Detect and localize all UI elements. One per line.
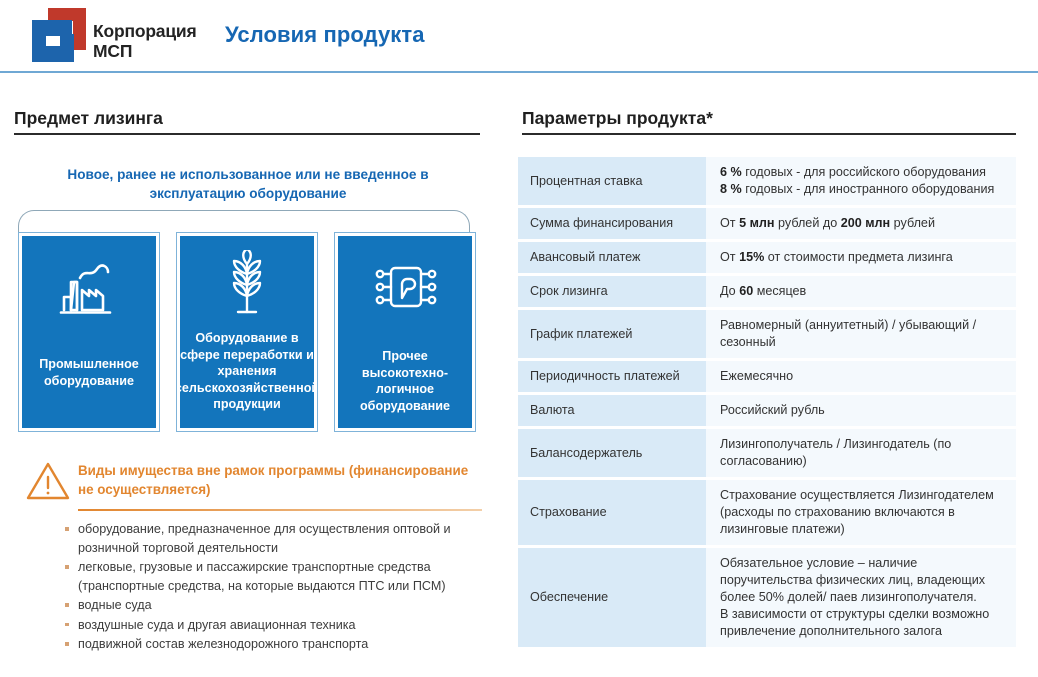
mcp-corporation-logo <box>28 6 88 64</box>
category-label: Промышленное оборудование <box>22 356 156 389</box>
wheat-ear-icon <box>221 248 273 322</box>
parameter-value: Лизингополучатель / Лизингодатель (по со… <box>706 428 1016 479</box>
factory-icon <box>58 254 120 328</box>
bullet-icon <box>65 527 69 531</box>
header-divider <box>0 71 1038 73</box>
right-section-title: Параметры продукта* <box>522 108 713 129</box>
left-section-divider <box>14 133 480 135</box>
list-item-text: оборудование, предназначенное для осущес… <box>78 522 451 555</box>
warning-title: Виды имущества вне рамок программы (фина… <box>78 462 478 499</box>
table-row: Авансовый платежОт 15% от стоимости пред… <box>518 241 1016 275</box>
product-parameters-table: Процентная ставка6 % годовых - для росси… <box>518 157 1016 647</box>
logo-wordmark-line1: Корпорация <box>93 21 196 41</box>
bullet-icon <box>65 603 69 607</box>
bullet-icon <box>65 642 69 646</box>
parameter-name: Страхование <box>518 479 706 547</box>
list-item: подвижной состав железнодорожного трансп… <box>62 635 494 654</box>
table-row: Периодичность платежейЕжемесячно <box>518 360 1016 394</box>
parameter-name: Валюта <box>518 394 706 428</box>
table-row: ВалютаРоссийский рубль <box>518 394 1016 428</box>
list-item: легковые, грузовые и пассажирские трансп… <box>62 558 494 595</box>
parameter-name: Срок лизинга <box>518 275 706 309</box>
list-item-text: водные суда <box>78 598 152 612</box>
parameter-name: Сумма финансирования <box>518 207 706 241</box>
parameter-value: Ежемесячно <box>706 360 1016 394</box>
category-label: Прочее высокотехно-логичное оборудование <box>338 348 472 414</box>
category-card-agriculture[interactable]: Оборудование в сфере переработки и хране… <box>177 233 317 431</box>
warning-triangle-icon <box>26 461 70 501</box>
table-row: СтрахованиеСтрахование осуществляется Ли… <box>518 479 1016 547</box>
parameter-name: График платежей <box>518 309 706 360</box>
list-item: оборудование, предназначенное для осущес… <box>62 520 494 557</box>
category-card-industrial[interactable]: Промышленное оборудование <box>19 233 159 431</box>
page-header: Корпорация МСП Условия продукта <box>0 0 1038 72</box>
parameter-value: От 15% от стоимости предмета лизинга <box>706 241 1016 275</box>
parameter-name: Процентная ставка <box>518 157 706 207</box>
right-section-divider <box>522 133 1016 135</box>
table-row: Сумма финансированияОт 5 млн рублей до 2… <box>518 207 1016 241</box>
bullet-icon <box>65 565 69 569</box>
product-parameters-body: Процентная ставка6 % годовых - для росси… <box>518 157 1016 647</box>
parameter-value: Равномерный (аннуитетный) / убывающий / … <box>706 309 1016 360</box>
category-card-hightech[interactable]: Прочее высокотехно-логичное оборудование <box>335 233 475 431</box>
bullet-icon <box>65 623 69 627</box>
list-item: воздушные суда и другая авиационная техн… <box>62 616 494 635</box>
parameter-value: Российский рубль <box>706 394 1016 428</box>
list-item-text: воздушные суда и другая авиационная техн… <box>78 618 356 632</box>
table-row: БалансодержательЛизингополучатель / Лизи… <box>518 428 1016 479</box>
warning-divider <box>78 509 482 511</box>
left-section-title: Предмет лизинга <box>14 108 163 129</box>
category-label: Оборудование в сфере переработки и хране… <box>170 330 324 413</box>
parameter-name: Авансовый платеж <box>518 241 706 275</box>
table-row: Срок лизингаДо 60 месяцев <box>518 275 1016 309</box>
parameter-value: Обязательное условие – наличие поручител… <box>706 547 1016 648</box>
table-row: Процентная ставка6 % годовых - для росси… <box>518 157 1016 207</box>
table-row: ОбеспечениеОбязательное условие – наличи… <box>518 547 1016 648</box>
parameter-value: Страхование осуществляется Лизингодателе… <box>706 479 1016 547</box>
exclusion-list: оборудование, предназначенное для осущес… <box>62 520 494 655</box>
list-item-text: легковые, грузовые и пассажирские трансп… <box>78 560 446 593</box>
logo-wordmark-line2: МСП <box>93 41 196 61</box>
parameter-value: 6 % годовых - для российского оборудован… <box>706 157 1016 207</box>
equipment-categories: Промышленное оборудование Оборудование в… <box>18 233 478 433</box>
parameter-value: До 60 месяцев <box>706 275 1016 309</box>
microchip-icon <box>372 252 438 326</box>
page-title: Условия продукта <box>225 22 425 48</box>
table-row: График платежейРавномерный (аннуитетный)… <box>518 309 1016 360</box>
parameter-name: Балансодержатель <box>518 428 706 479</box>
parameter-name: Периодичность платежей <box>518 360 706 394</box>
lease-subject-headline: Новое, ранее не использованное или не вв… <box>20 165 476 203</box>
list-item-text: подвижной состав железнодорожного трансп… <box>78 637 368 651</box>
logo-wordmark: Корпорация МСП <box>93 21 196 61</box>
parameter-value: От 5 млн рублей до 200 млн рублей <box>706 207 1016 241</box>
list-item: водные суда <box>62 596 494 615</box>
parameter-name: Обеспечение <box>518 547 706 648</box>
